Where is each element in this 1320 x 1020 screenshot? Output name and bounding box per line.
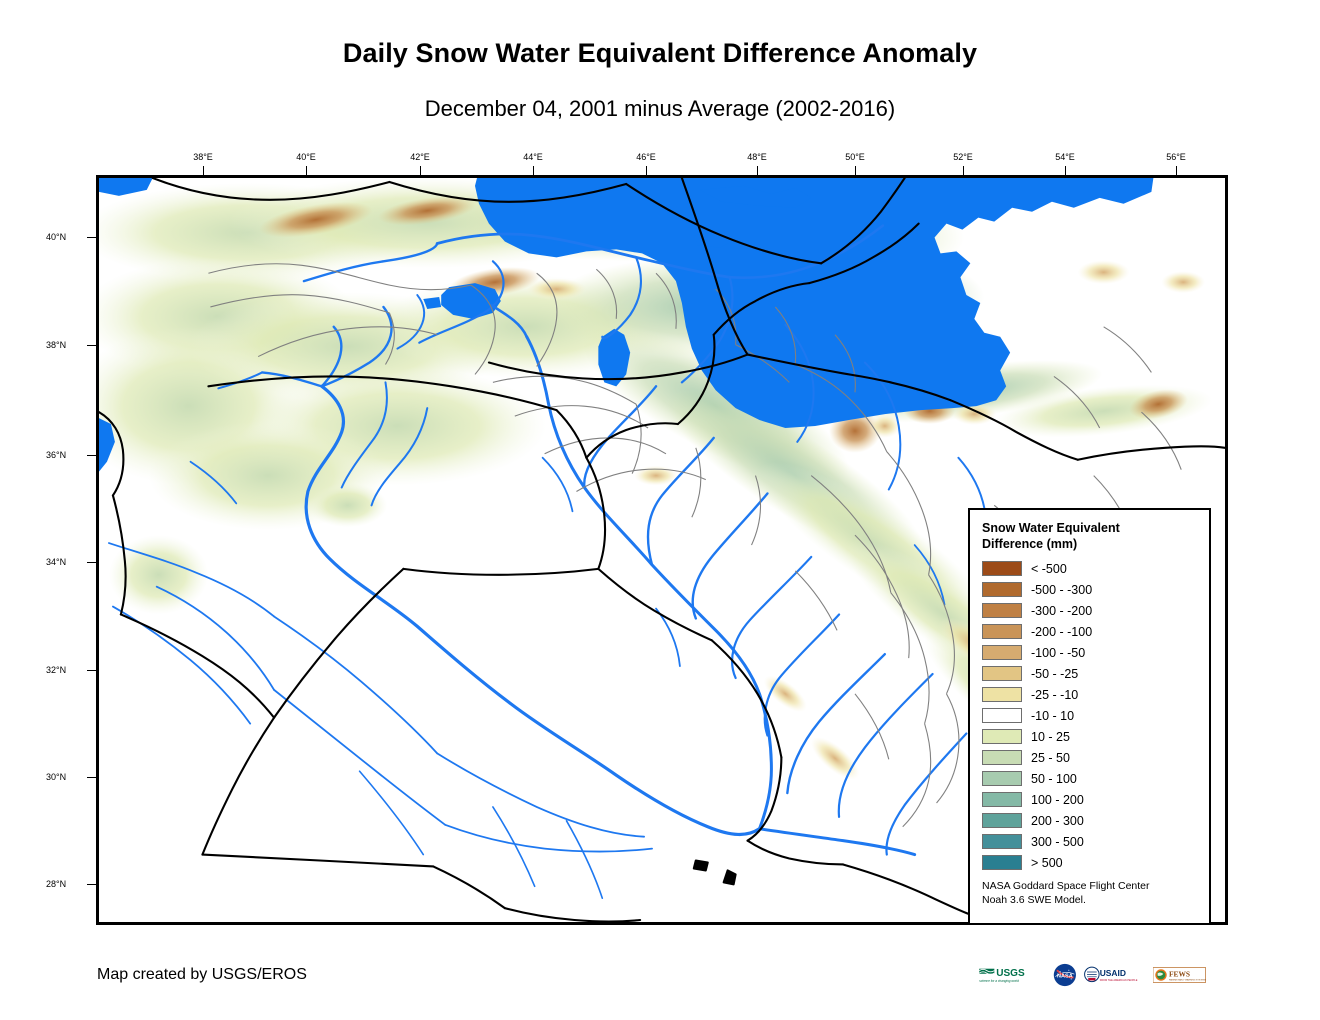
legend-label: < -500	[1031, 562, 1067, 576]
longitude-tick-label: 44°E	[523, 152, 543, 162]
longitude-tick-mark	[1176, 166, 1177, 175]
legend-label: 100 - 200	[1031, 793, 1084, 807]
legend-label: 25 - 50	[1031, 751, 1070, 765]
legend-row: 50 - 100	[982, 768, 1199, 789]
legend-row: -500 - -300	[982, 579, 1199, 600]
legend-swatch	[982, 750, 1022, 765]
page-title: Daily Snow Water Equivalent Difference A…	[0, 38, 1320, 69]
legend-label: 200 - 300	[1031, 814, 1084, 828]
legend-title-line1: Snow Water Equivalent	[982, 521, 1120, 535]
legend-swatch	[982, 855, 1022, 870]
legend-note-line1: NASA Goddard Space Flight Center	[982, 880, 1150, 892]
legend-row: 300 - 500	[982, 831, 1199, 852]
legend-swatch	[982, 645, 1022, 660]
legend-swatch	[982, 561, 1022, 576]
longitude-tick-mark	[420, 166, 421, 175]
legend-label: -300 - -200	[1031, 604, 1092, 618]
legend-label: -500 - -300	[1031, 583, 1092, 597]
latitude-tick-label: 36°N	[46, 450, 66, 460]
latitude-tick-mark	[87, 884, 96, 885]
svg-text:FEWS: FEWS	[1169, 970, 1190, 979]
legend-title-line2: Difference (mm)	[982, 537, 1077, 551]
legend-swatch	[982, 687, 1022, 702]
longitude-tick-label: 46°E	[636, 152, 656, 162]
longitude-tick-mark	[963, 166, 964, 175]
usaid-logo: USAID FROM THE AMERICAN PEOPLE	[1084, 960, 1147, 990]
legend-row: < -500	[982, 558, 1199, 579]
legend-row: > 500	[982, 852, 1199, 873]
latitude-tick-mark	[87, 345, 96, 346]
longitude-tick-mark	[757, 166, 758, 175]
legend-row: -200 - -100	[982, 621, 1199, 642]
map-credit: Map created by USGS/EROS	[97, 966, 307, 984]
svg-text:FROM THE AMERICAN PEOPLE: FROM THE AMERICAN PEOPLE	[1099, 979, 1137, 982]
legend-attribution: NASA Goddard Space Flight Center Noah 3.…	[982, 880, 1199, 908]
legend-swatch	[982, 792, 1022, 807]
legend-swatch	[982, 582, 1022, 597]
legend-row: -100 - -50	[982, 642, 1199, 663]
legend-swatch	[982, 771, 1022, 786]
legend-swatch	[982, 813, 1022, 828]
svg-text:USAID: USAID	[1099, 968, 1125, 978]
longitude-tick-mark	[1065, 166, 1066, 175]
latitude-tick-mark	[87, 670, 96, 671]
legend-swatch	[982, 708, 1022, 723]
latitude-tick-label: 40°N	[46, 232, 66, 242]
legend-row: -50 - -25	[982, 663, 1199, 684]
latitude-tick-mark	[87, 455, 96, 456]
legend-label: 50 - 100	[1031, 772, 1077, 786]
legend-label: > 500	[1031, 856, 1063, 870]
longitude-tick-label: 52°E	[953, 152, 973, 162]
longitude-tick-mark	[646, 166, 647, 175]
longitude-tick-mark	[533, 166, 534, 175]
nasa-logo: NASA	[1053, 960, 1077, 990]
legend-swatch	[982, 729, 1022, 744]
legend-label: -10 - 10	[1031, 709, 1074, 723]
legend-row: 25 - 50	[982, 747, 1199, 768]
legend-label: -50 - -25	[1031, 667, 1078, 681]
longitude-tick-label: 40°E	[296, 152, 316, 162]
latitude-tick-label: 28°N	[46, 879, 66, 889]
legend-row: -25 - -10	[982, 684, 1199, 705]
legend-label: -100 - -50	[1031, 646, 1085, 660]
legend-row: -10 - 10	[982, 705, 1199, 726]
legend-title: Snow Water Equivalent Difference (mm)	[982, 520, 1199, 552]
longitude-tick-label: 48°E	[747, 152, 767, 162]
latitude-tick-mark	[87, 562, 96, 563]
latitude-tick-label: 34°N	[46, 557, 66, 567]
longitude-tick-label: 56°E	[1166, 152, 1186, 162]
svg-text:FAMINE EARLY WARNING SYSTEMS: FAMINE EARLY WARNING SYSTEMS	[1169, 979, 1206, 982]
legend-row: 100 - 200	[982, 789, 1199, 810]
longitude-tick-label: 38°E	[193, 152, 213, 162]
legend-label: -25 - -10	[1031, 688, 1078, 702]
longitude-tick-mark	[306, 166, 307, 175]
legend-class-list: < -500-500 - -300-300 - -200-200 - -100-…	[982, 558, 1199, 873]
legend-swatch	[982, 624, 1022, 639]
longitude-tick-label: 42°E	[410, 152, 430, 162]
latitude-tick-label: 38°N	[46, 340, 66, 350]
legend-row: 10 - 25	[982, 726, 1199, 747]
usgs-logo: USGS science for a changing world	[978, 960, 1046, 990]
map-legend[interactable]: Snow Water Equivalent Difference (mm) < …	[968, 508, 1211, 925]
legend-row: -300 - -200	[982, 600, 1199, 621]
svg-text:NASA: NASA	[1057, 973, 1073, 979]
longitude-tick-mark	[855, 166, 856, 175]
longitude-tick-mark	[203, 166, 204, 175]
latitude-tick-mark	[87, 237, 96, 238]
legend-swatch	[982, 666, 1022, 681]
legend-label: 300 - 500	[1031, 835, 1084, 849]
latitude-tick-label: 30°N	[46, 772, 66, 782]
svg-text:science for a changing world: science for a changing world	[979, 979, 1019, 983]
legend-label: 10 - 25	[1031, 730, 1070, 744]
latitude-tick-label: 32°N	[46, 665, 66, 675]
agency-logos: USGS science for a changing world NASA U…	[978, 957, 1206, 993]
legend-swatch	[982, 603, 1022, 618]
legend-note-line2: Noah 3.6 SWE Model.	[982, 894, 1086, 906]
svg-text:USGS: USGS	[996, 968, 1025, 979]
legend-swatch	[982, 834, 1022, 849]
latitude-tick-mark	[87, 777, 96, 778]
legend-label: -200 - -100	[1031, 625, 1092, 639]
legend-row: 200 - 300	[982, 810, 1199, 831]
longitude-tick-label: 50°E	[845, 152, 865, 162]
page-subtitle: December 04, 2001 minus Average (2002-20…	[0, 96, 1320, 122]
longitude-tick-label: 54°E	[1055, 152, 1075, 162]
fewsnet-logo: FEWS FAMINE EARLY WARNING SYSTEMS	[1153, 960, 1206, 990]
